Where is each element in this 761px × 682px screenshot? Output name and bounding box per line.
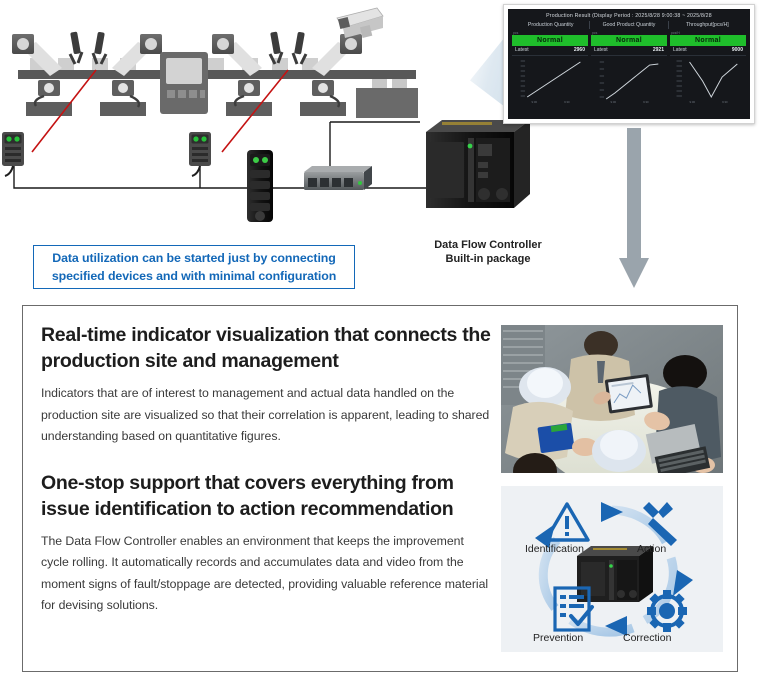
chart-production-quantity: 9:009:30 <box>512 57 588 104</box>
dashboard-card-good-product-quantity[interactable]: pcs Normal Latest 2921 <box>591 31 667 104</box>
improvement-cycle-diagram: Identification Action Correction Prevent… <box>501 486 723 652</box>
chart-throughput: 9:009:30 <box>670 57 746 104</box>
dashboard-title: Production Result (Display Period : 2025… <box>512 12 746 20</box>
callout-box: Data utilization can be started just by … <box>33 245 355 289</box>
latest-label-1: Latest <box>594 46 608 55</box>
feature-block-visualization: Real-time indicator visualization that c… <box>41 322 491 448</box>
dashboard-card-throughput[interactable]: pcs/H Normal Latest 9000 <box>670 31 746 104</box>
svg-text:9:30: 9:30 <box>564 100 570 104</box>
dashboard-monitor[interactable]: Production Result (Display Period : 2025… <box>503 4 755 124</box>
svg-text:9:00: 9:00 <box>611 100 617 104</box>
callout-line-2: specified devices and with minimal confi… <box>52 269 336 283</box>
gear-icon <box>647 590 687 632</box>
network-devices-illustration <box>0 110 530 240</box>
cycle-label-prevention: Prevention <box>533 632 583 644</box>
feature-block-support: One-stop support that covers everything … <box>41 470 491 617</box>
svg-text:9:00: 9:00 <box>690 100 696 104</box>
latest-label-2: Latest <box>673 46 687 55</box>
dashboard-screen: Production Result (Display Period : 2025… <box>508 9 750 119</box>
latest-value-0: 2960 <box>574 46 585 55</box>
svg-text:9:00: 9:00 <box>532 100 538 104</box>
status-badge-1: Normal <box>591 35 667 46</box>
feature-title-support: One-stop support that covers everything … <box>41 470 491 522</box>
cycle-label-correction: Correction <box>623 632 671 644</box>
svg-text:9:30: 9:30 <box>722 100 728 104</box>
cycle-label-identification: Identification <box>525 543 584 555</box>
feature-body-support: The Data Flow Controller enables an envi… <box>41 531 491 617</box>
device-caption-line-2: Built-in package <box>404 252 572 266</box>
chart-good-product-quantity: 9:009:30 <box>591 57 667 104</box>
top-diagram-area: Production Result (Display Period : 2025… <box>0 0 761 300</box>
latest-value-1: 2921 <box>653 46 664 55</box>
device-caption: Data Flow Controller Built-in package <box>404 238 572 266</box>
flow-down-arrow-icon <box>617 128 651 290</box>
dashboard-col-header-0: Production Quantity <box>512 21 590 29</box>
latest-label-0: Latest <box>515 46 529 55</box>
cycle-label-action: Action <box>637 543 666 555</box>
feature-title-visualization: Real-time indicator visualization that c… <box>41 322 491 374</box>
network-switch-device <box>304 166 372 190</box>
dashboard-col-header-1: Good Product Quantity <box>590 21 668 29</box>
feature-body-visualization: Indicators that are of interest to manag… <box>41 383 491 448</box>
status-badge-2: Normal <box>670 35 746 46</box>
data-flow-controller-device <box>426 120 530 208</box>
svg-text:9:30: 9:30 <box>643 100 649 104</box>
feature-panel: Real-time indicator visualization that c… <box>22 305 738 672</box>
meeting-photo <box>501 325 723 473</box>
dashboard-card-production-quantity[interactable]: pcs Normal Latest 2960 <box>512 31 588 104</box>
latest-value-2: 9000 <box>732 46 743 55</box>
io-block-device <box>247 150 273 222</box>
security-camera-icon <box>333 4 393 46</box>
dashboard-column-headers: Production Quantity Good Product Quantit… <box>512 21 746 29</box>
status-badge-0: Normal <box>512 35 588 46</box>
callout-line-1: Data utilization can be started just by … <box>52 251 335 265</box>
feature-media-column: Identification Action Correction Prevent… <box>501 322 723 661</box>
device-caption-line-1: Data Flow Controller <box>404 238 572 252</box>
dashboard-col-header-2: Throughput[pcs/H] <box>669 21 746 29</box>
feature-text-column: Real-time indicator visualization that c… <box>41 322 501 661</box>
